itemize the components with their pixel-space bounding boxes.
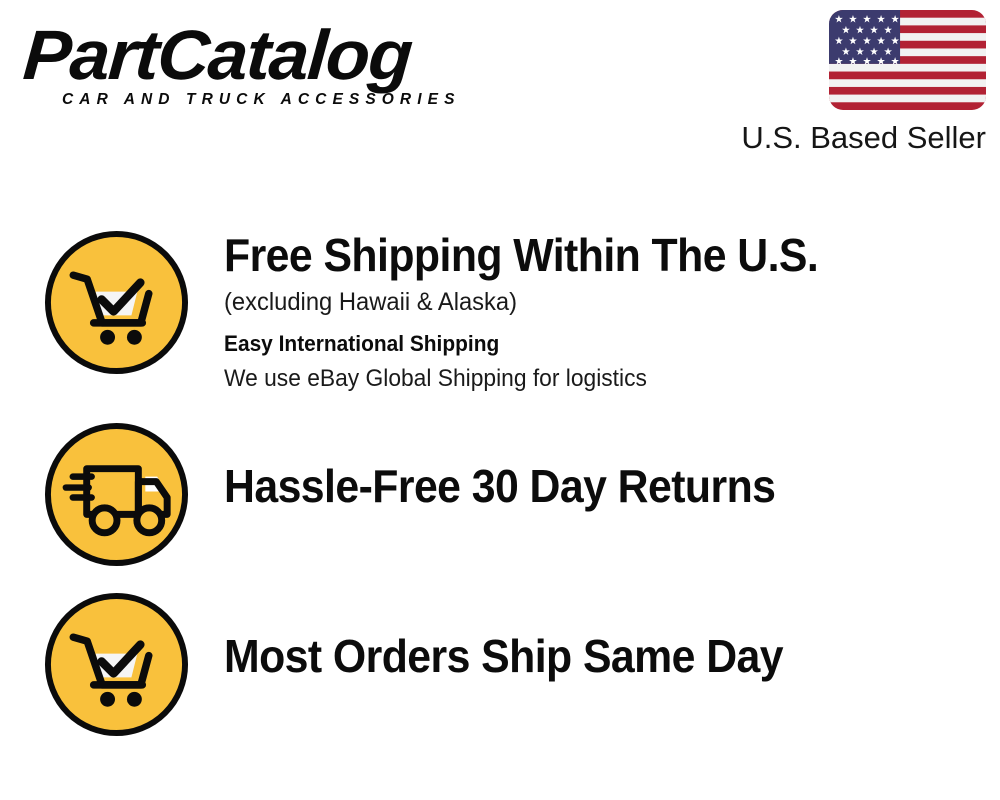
- feature-title: Hassle-Free 30 Day Returns: [224, 462, 946, 511]
- header-banner: PartCatalog CAR AND TRUCK ACCESSORIES: [0, 0, 1000, 175]
- feature-item-free-shipping: Free Shipping Within The U.S. (excluding…: [0, 228, 1000, 394]
- feature-strong-line: Easy International Shipping: [224, 330, 961, 359]
- feature-text-block: Hassle-Free 30 Day Returns: [224, 420, 1000, 511]
- cart-check-icon: [42, 228, 191, 377]
- us-based-seller-label: U.S. Based Seller: [686, 121, 986, 155]
- feature-title: Most Orders Ship Same Day: [224, 632, 946, 681]
- feature-text-block: Most Orders Ship Same Day: [224, 590, 1000, 681]
- feature-note: We use eBay Global Shipping for logistic…: [224, 363, 961, 394]
- feature-title: Free Shipping Within The U.S.: [224, 231, 946, 280]
- feature-subtitle: (excluding Hawaii & Alaska): [224, 286, 961, 319]
- us-flag-icon: [829, 10, 986, 110]
- us-based-seller-badge: U.S. Based Seller: [686, 10, 986, 155]
- feature-item-returns: Hassle-Free 30 Day Returns: [0, 420, 1000, 569]
- brand-logo: PartCatalog CAR AND TRUCK ACCESSORIES: [26, 22, 496, 109]
- delivery-truck-icon: [42, 420, 191, 569]
- cart-check-icon: [42, 590, 191, 739]
- feature-item-same-day: Most Orders Ship Same Day: [0, 590, 1000, 739]
- brand-wordmark: PartCatalog: [21, 22, 510, 89]
- feature-text-block: Free Shipping Within The U.S. (excluding…: [224, 228, 1000, 394]
